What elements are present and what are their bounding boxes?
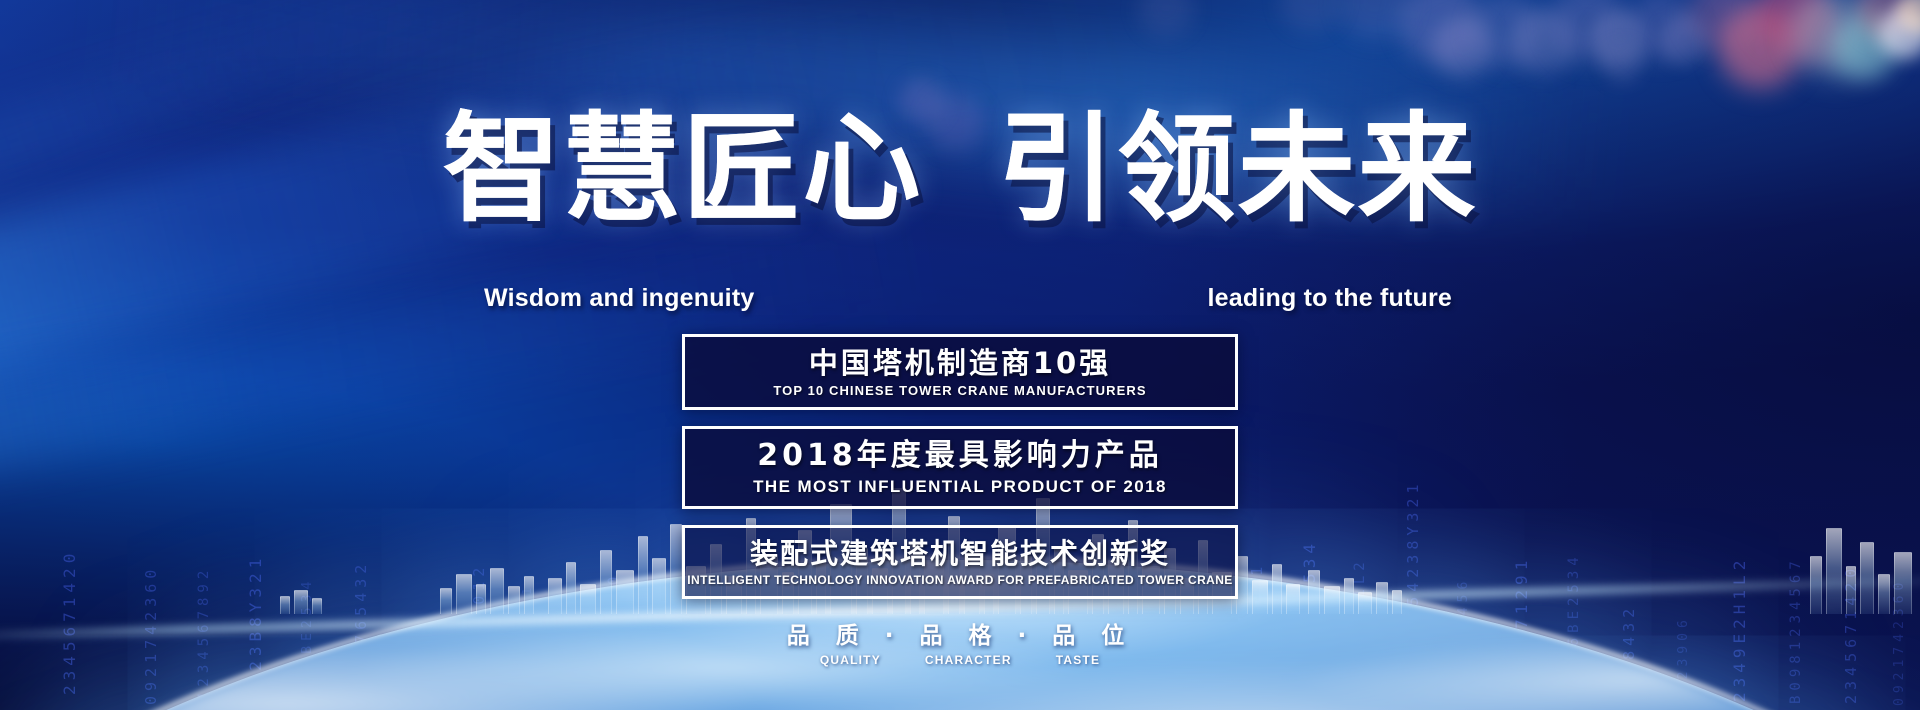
tagline-en-taste: TASTE <box>1056 653 1100 667</box>
bottom-tagline: 品 质 · 品 格 · 品 位 QUALITY CHARACTER TASTE <box>0 616 1920 667</box>
skyline-building <box>1252 580 1268 614</box>
skyline-building <box>476 584 486 614</box>
award-list: 中国塔机制造商10强 TOP 10 CHINESE TOWER CRANE MA… <box>682 334 1238 615</box>
award-box-1: 中国塔机制造商10强 TOP 10 CHINESE TOWER CRANE MA… <box>682 334 1238 410</box>
headline-en-left: Wisdom and ingenuity <box>484 284 754 313</box>
skyline-building <box>1826 528 1842 614</box>
skyline-building <box>638 536 648 614</box>
skyline-building <box>508 586 520 614</box>
skyline-building <box>1878 574 1890 614</box>
tagline-en-row: QUALITY CHARACTER TASTE <box>0 653 1920 667</box>
headline-cn-left: 智慧匠心 <box>443 108 923 231</box>
skyline-building <box>580 584 596 614</box>
skyline-building <box>490 568 504 614</box>
award-1-en: TOP 10 CHINESE TOWER CRANE MANUFACTURERS <box>685 383 1235 398</box>
skyline-building <box>1894 552 1912 614</box>
headline-en-right: leading to the future <box>1208 284 1452 313</box>
award-2-en: THE MOST INFLUENTIAL PRODUCT OF 2018 <box>685 477 1235 497</box>
banner-stage: 2345671420092174236012345678925423B8Y321… <box>0 0 1920 710</box>
skyline-building <box>280 596 290 614</box>
skyline-building <box>1846 566 1856 614</box>
skyline-building <box>1272 564 1282 614</box>
headline-subtitle-row: Wisdom and ingenuity leading to the futu… <box>0 284 1920 313</box>
skyline-building <box>600 550 612 614</box>
award-2-cn: 2018年度最具影响力产品 <box>685 439 1235 473</box>
tagline-en-character: CHARACTER <box>925 653 1012 667</box>
skyline-building <box>312 598 322 614</box>
skyline-building <box>440 588 452 614</box>
skyline-building <box>1344 578 1354 614</box>
award-3-en: INTELLIGENT TECHNOLOGY INNOVATION AWARD … <box>685 573 1235 587</box>
skyline-building <box>1358 592 1372 614</box>
award-1-cn: 中国塔机制造商10强 <box>685 347 1235 379</box>
tagline-en-quality: QUALITY <box>820 653 881 667</box>
skyline-building <box>1376 582 1388 614</box>
award-3-cn: 装配式建筑塔机智能技术创新奖 <box>685 538 1235 569</box>
skyline-building <box>524 576 534 614</box>
skyline-building <box>1286 584 1300 614</box>
skyline-building <box>652 558 666 614</box>
headline-block: 智慧匠心 引领未来 <box>0 108 1920 231</box>
award-box-2: 2018年度最具影响力产品 THE MOST INFLUENTIAL PRODU… <box>682 426 1238 509</box>
award-box-3: 装配式建筑塔机智能技术创新奖 INTELLIGENT TECHNOLOGY IN… <box>682 525 1238 599</box>
skyline-building <box>294 590 308 614</box>
tagline-cn: 品 质 · 品 格 · 品 位 <box>0 616 1920 650</box>
skyline-building <box>616 570 634 614</box>
skyline-building <box>456 574 472 614</box>
skyline-building <box>670 524 682 614</box>
headline-cn-right: 引领未来 <box>997 108 1477 231</box>
skyline-building <box>1860 542 1874 614</box>
skyline-building <box>1308 570 1320 614</box>
skyline-building <box>1810 556 1822 614</box>
skyline-building <box>1324 586 1340 614</box>
skyline-building <box>548 578 562 614</box>
skyline-building <box>566 562 576 614</box>
skyline-building <box>1392 590 1402 614</box>
